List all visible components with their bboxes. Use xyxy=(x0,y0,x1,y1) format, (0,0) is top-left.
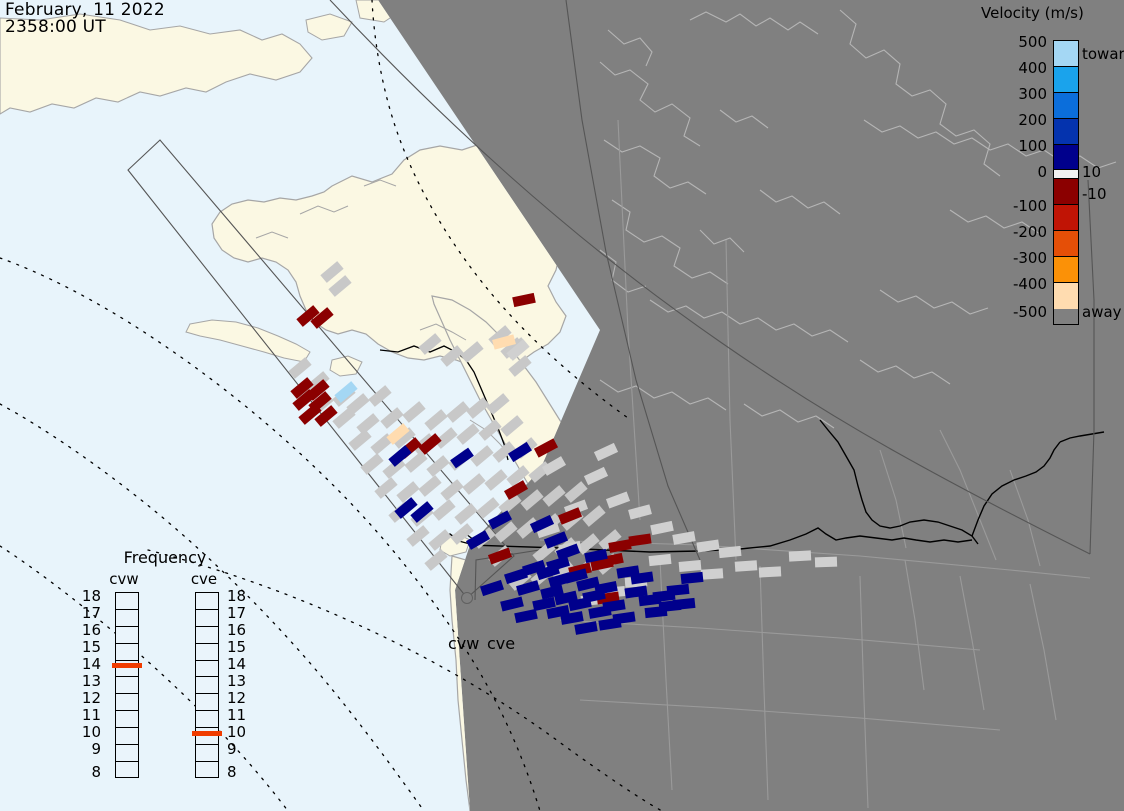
freq-cvw-tick-10: 10 xyxy=(82,723,101,741)
freq-cve-tick-10: 10 xyxy=(227,723,246,741)
map-site-label-cve: cve xyxy=(487,634,515,653)
freq-cvw-tick-9: 9 xyxy=(91,740,101,758)
map-site-label-cvw: cvw xyxy=(448,634,479,653)
colorbar-swatch-200 xyxy=(1054,119,1078,145)
freq-cvw-tick-17: 17 xyxy=(82,604,101,622)
superdarn-map-figure: February, 11 2022 2358:00 UT Velocity (m… xyxy=(0,0,1124,811)
freq-cvw-tick-16: 16 xyxy=(82,621,101,639)
colorbar-tick-labels: 500 400 300 200 100 0 -100 -200 -300 -40… xyxy=(975,2,1049,337)
freq-cve-tick-15: 15 xyxy=(227,638,246,656)
colorbar-annotations: toward 10 -10 away xyxy=(1082,2,1124,337)
colorbar-tick-0: 0 xyxy=(1037,163,1047,181)
timestamp-block: February, 11 2022 2358:00 UT xyxy=(5,2,165,36)
frequency-column-cvw: cvw 18 17 16 15 14 13 12 11 10 9 8 xyxy=(93,570,155,802)
colorbar-swatch-minus400 xyxy=(1054,257,1078,283)
frequency-radar-name-cve: cve xyxy=(173,570,235,588)
colorbar-tick-m500: -500 xyxy=(1013,303,1047,321)
colorbar-note-toward: toward xyxy=(1082,45,1124,63)
colorbar-note-away: away xyxy=(1082,303,1122,321)
freq-cvw-tick-8: 8 xyxy=(91,763,101,781)
colorbar-tick-100: 100 xyxy=(1018,137,1047,155)
freq-cvw-tick-13: 13 xyxy=(82,672,101,690)
colorbar-tick-200: 200 xyxy=(1018,111,1047,129)
frequency-radar-name-cvw: cvw xyxy=(93,570,155,588)
freq-cve-tick-11: 11 xyxy=(227,706,246,724)
colorbar-swatch-minus100 xyxy=(1054,179,1078,205)
freq-cvw-tick-18: 18 xyxy=(82,587,101,605)
colorbar-tick-m300: -300 xyxy=(1013,249,1047,267)
colorbar-tick-m100: -100 xyxy=(1013,197,1047,215)
freq-cve-tick-8: 8 xyxy=(227,763,237,781)
frequency-title: Frequency xyxy=(85,548,245,567)
freq-cve-tick-17: 17 xyxy=(227,604,246,622)
freq-cvw-tick-12: 12 xyxy=(82,689,101,707)
freq-cvw-tick-14: 14 xyxy=(82,655,101,673)
freq-cve-tick-18: 18 xyxy=(227,587,246,605)
colorbar-tick-500: 500 xyxy=(1018,33,1047,51)
colorbar-tick-300: 300 xyxy=(1018,85,1047,103)
frequency-marker-cve xyxy=(192,731,222,736)
colorbar-swatch-300 xyxy=(1054,93,1078,119)
colorbar-note-minus10: -10 xyxy=(1082,185,1107,203)
freq-cve-tick-13: 13 xyxy=(227,672,246,690)
time-label: 2358:00 UT xyxy=(5,19,165,36)
colorbar-swatch-minus500 xyxy=(1054,283,1078,309)
frequency-marker-cvw xyxy=(112,663,142,668)
freq-cvw-tick-15: 15 xyxy=(82,638,101,656)
colorbar-gradient xyxy=(1053,40,1079,325)
colorbar-swatch-zero xyxy=(1054,170,1078,179)
colorbar-tick-m400: -400 xyxy=(1013,275,1047,293)
freq-cve-tick-9: 9 xyxy=(227,740,237,758)
colorbar-tick-400: 400 xyxy=(1018,59,1047,77)
frequency-bar-cve xyxy=(195,592,219,778)
colorbar-tick-m200: -200 xyxy=(1013,223,1047,241)
freq-cve-tick-16: 16 xyxy=(227,621,246,639)
velocity-colorbar: Velocity (m/s) 500 400 300 200 100 0 -10… xyxy=(975,2,1124,337)
freq-cve-tick-12: 12 xyxy=(227,689,246,707)
colorbar-swatch-400 xyxy=(1054,67,1078,93)
freq-cve-tick-14: 14 xyxy=(227,655,246,673)
colorbar-note-plus10: 10 xyxy=(1082,163,1101,181)
frequency-bar-cvw xyxy=(115,592,139,778)
colorbar-swatch-minus200 xyxy=(1054,205,1078,231)
colorbar-swatch-100 xyxy=(1054,145,1078,171)
colorbar-swatch-minus300 xyxy=(1054,231,1078,257)
freq-cvw-tick-11: 11 xyxy=(82,706,101,724)
frequency-legend: Frequency cvw 18 17 16 15 14 13 12 11 10 xyxy=(85,548,245,804)
ground-scatter-cells xyxy=(288,261,621,591)
colorbar-swatch-500 xyxy=(1054,41,1078,67)
frequency-column-cve: cve 18 17 16 15 14 13 12 11 10 9 8 xyxy=(173,570,235,802)
